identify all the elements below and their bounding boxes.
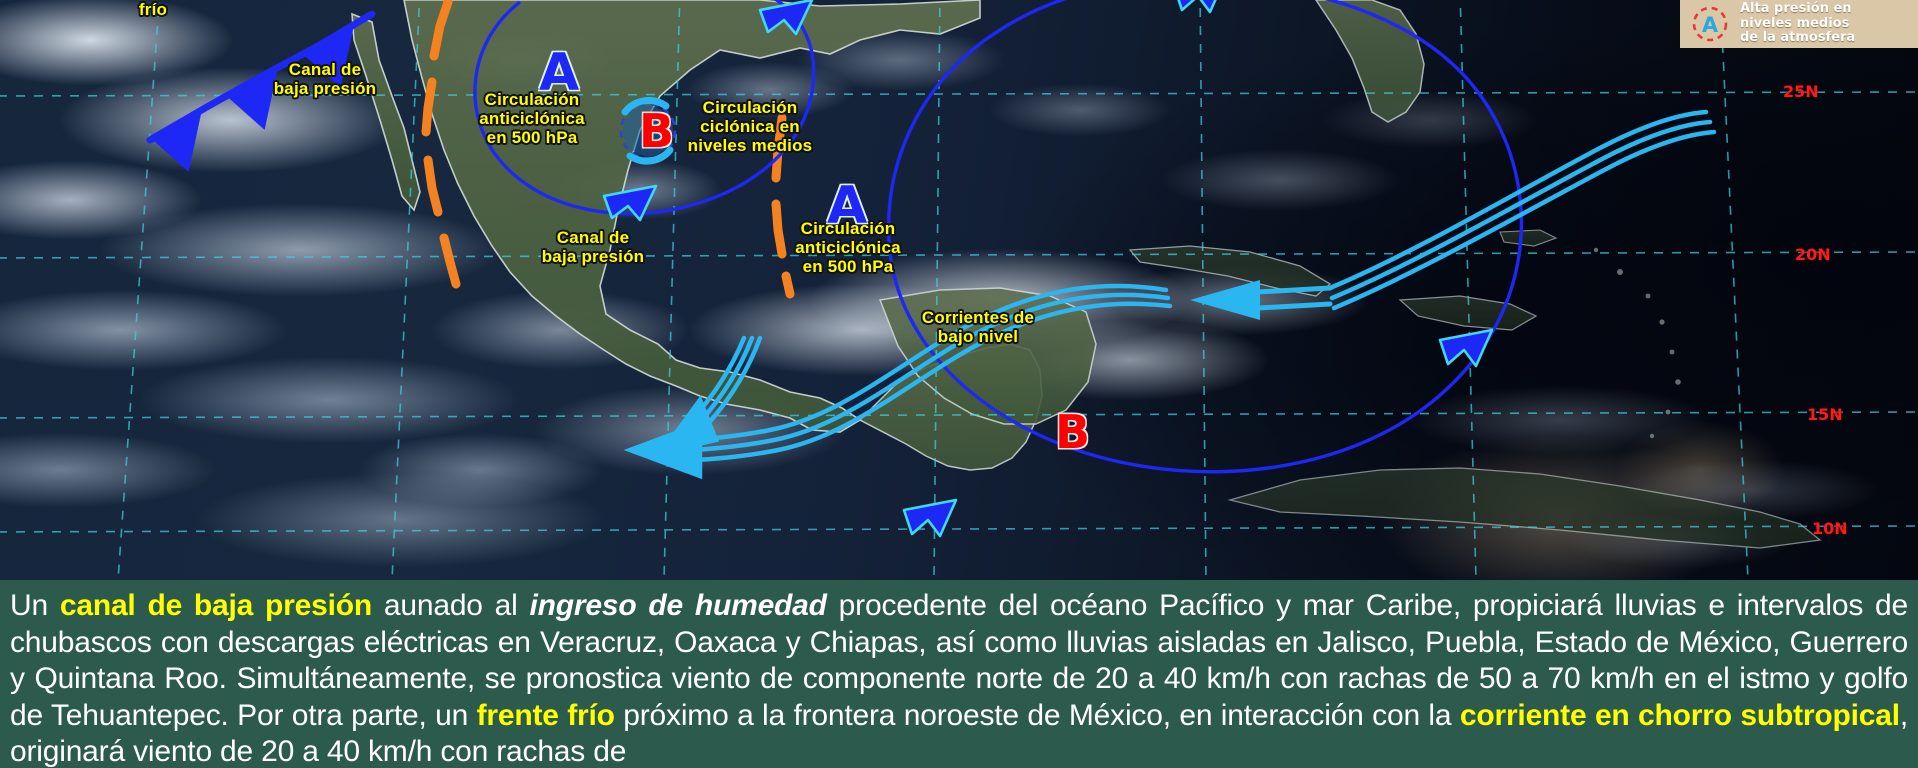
latitude-label-20n: 20N [1795, 245, 1831, 264]
forecast-segment: frente frío [477, 699, 615, 732]
low-pressure-symbol-pacific: B [639, 108, 674, 154]
forecast-segment: próximo a la frontera noroeste de México… [615, 699, 1460, 732]
anticyclone-boundary-caribbean [889, 0, 1522, 536]
legend-description: Alta presión en niveles medios de la atm… [1740, 2, 1855, 46]
trough-label-pacific: Canal de baja presión [250, 60, 400, 98]
trough-label-isthmus: Canal de baja presión [518, 228, 668, 266]
forecast-segment: corriente en chorro subtropical [1460, 699, 1900, 732]
low-level-jet-label: Corrientes de bajo nivel [898, 308, 1058, 346]
high-pressure-legend-icon: A [1688, 2, 1732, 46]
low-level-jet-east-arrow [1190, 280, 1330, 320]
weather-map-screenshot: fríoCanal de baja presiónCirculación ant… [0, 0, 1918, 768]
cold-front-label: frío [108, 0, 198, 19]
forecast-text-banner: Un canal de baja presión aunado al ingre… [0, 580, 1918, 768]
high-pressure-symbol-caribbean: A [827, 180, 867, 232]
forecast-segment: Un [10, 589, 60, 622]
legend-box: A Alta presión en niveles medios de la a… [1680, 0, 1918, 48]
svg-text:A: A [1702, 13, 1719, 37]
forecast-segment: canal de baja presión [60, 589, 372, 622]
latitude-label-25n: 25N [1783, 82, 1819, 101]
latitude-label-15n: 15N [1807, 405, 1843, 424]
satellite-imagery-map: fríoCanal de baja presiónCirculación ant… [0, 0, 1918, 580]
latitude-label-10n: 10N [1812, 519, 1848, 538]
forecast-segment: aunado al [372, 589, 530, 622]
anticyclone-label-north: Circulación anticiclónica en 500 hPa [452, 90, 612, 147]
high-pressure-symbol-north: A [539, 47, 579, 99]
cyclonic-circulation-label: Circulación ciclónica en niveles medios [670, 98, 830, 155]
forecast-paragraph: Un canal de baja presión aunado al ingre… [10, 588, 1908, 768]
low-pressure-symbol-caribbean: B [1055, 409, 1090, 455]
forecast-segment: ingreso de humedad [530, 589, 827, 622]
